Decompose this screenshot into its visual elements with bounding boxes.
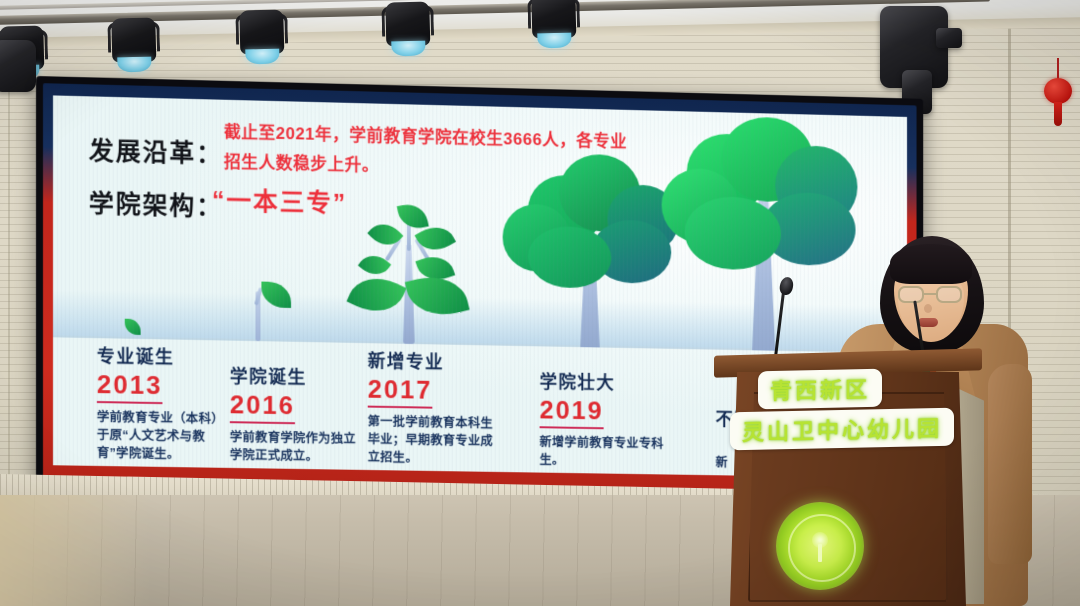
glasses-lens-left bbox=[898, 286, 924, 303]
stage-light-5 bbox=[527, 0, 580, 55]
glasses-lens-right bbox=[936, 286, 962, 303]
presenter-hair-fringe bbox=[890, 244, 972, 284]
projector-mount bbox=[936, 28, 962, 48]
presenter-arm bbox=[988, 364, 1032, 564]
timeline-desc: 新增学前教育专业专科生。 bbox=[540, 433, 672, 470]
slide-quote: “一本三专” bbox=[212, 181, 347, 220]
canopy-blob bbox=[528, 226, 611, 289]
stage-light-2 bbox=[107, 17, 160, 78]
timeline-item-3: 新增专业 2017 第一批学前教育本科生毕业；早期教育专业成立招生。 bbox=[368, 347, 501, 468]
timeline-desc: 学前教育专业（本科）于原“人文艺术与教育”学院诞生。 bbox=[97, 408, 222, 464]
tree-growth-stage-2-sprout bbox=[240, 275, 299, 342]
light-lens bbox=[537, 33, 571, 49]
leaf-icon bbox=[405, 269, 470, 322]
light-lens bbox=[391, 41, 425, 57]
timeline-title: 学院壮大 bbox=[540, 368, 672, 396]
leaf-icon bbox=[261, 282, 291, 308]
light-lens bbox=[117, 57, 151, 73]
timeline-desc: 第一批学前教育本科生毕业；早期教育专业成立招生。 bbox=[368, 413, 501, 469]
tree-growth-stage-1-seed bbox=[115, 311, 155, 340]
tree-growth-stage-3-sapling bbox=[346, 200, 475, 345]
timeline-item-1: 专业诞生 2013 学前教育专业（本科）于原“人文艺术与教育”学院诞生。 bbox=[97, 342, 222, 464]
chinese-knot-ornament bbox=[1040, 58, 1076, 130]
leaf-icon bbox=[367, 216, 403, 252]
emblem-tree-trunk bbox=[818, 544, 822, 562]
timeline-item-2: 学院诞生 2016 学前教育学院作为独立学院正式成立。 bbox=[230, 362, 360, 465]
timeline-item-4: 学院壮大 2019 新增学前教育专业专科生。 bbox=[540, 368, 672, 471]
presenter-nose bbox=[924, 304, 932, 313]
tree-icon bbox=[812, 532, 828, 562]
leaf-icon bbox=[125, 319, 141, 335]
podium: 青西新区 灵山卫中心幼儿园 bbox=[714, 352, 982, 606]
canopy-blob bbox=[685, 196, 781, 271]
light-lens bbox=[245, 49, 279, 65]
glasses-icon bbox=[898, 286, 964, 303]
timeline-year: 2016 bbox=[230, 389, 295, 424]
podium-sign-line-2: 灵山卫中心幼儿园 bbox=[730, 408, 954, 451]
timeline-title: 专业诞生 bbox=[97, 342, 222, 370]
timeline-title: 新增专业 bbox=[368, 347, 501, 375]
wall-speaker-left bbox=[0, 40, 36, 92]
tree-growth-stage-5-big-tree bbox=[662, 115, 864, 353]
knot-tassel bbox=[1054, 102, 1062, 126]
stage-light-4 bbox=[381, 1, 434, 62]
presenter-mouth bbox=[918, 318, 938, 327]
podium-sign-line-1: 青西新区 bbox=[758, 369, 882, 410]
timeline-year: 2019 bbox=[540, 395, 604, 430]
slide-heading-2: 学院架构： bbox=[89, 184, 223, 223]
screenshot-root: 发展沿革： 截止至2021年，学前教育学院在校生3666人，各专业招生人数稳步上… bbox=[0, 0, 1080, 606]
timeline-title: 学院诞生 bbox=[230, 362, 360, 390]
glasses-bridge bbox=[924, 293, 936, 295]
tree-growth-stage-4-tree bbox=[499, 148, 683, 349]
leaf-icon bbox=[397, 201, 429, 231]
timeline-desc: 学前教育学院作为独立学院正式成立。 bbox=[230, 428, 360, 466]
leaf-icon bbox=[347, 267, 407, 322]
kindergarten-emblem bbox=[776, 502, 864, 590]
leaf-icon bbox=[358, 248, 391, 281]
stage-floor-light-pool bbox=[0, 495, 150, 606]
timeline-year: 2017 bbox=[368, 374, 432, 409]
timeline-year: 2013 bbox=[97, 369, 162, 404]
slide-heading-1: 发展沿革： bbox=[89, 131, 223, 170]
stage-light-3 bbox=[235, 9, 288, 70]
knot-ball bbox=[1044, 78, 1072, 104]
